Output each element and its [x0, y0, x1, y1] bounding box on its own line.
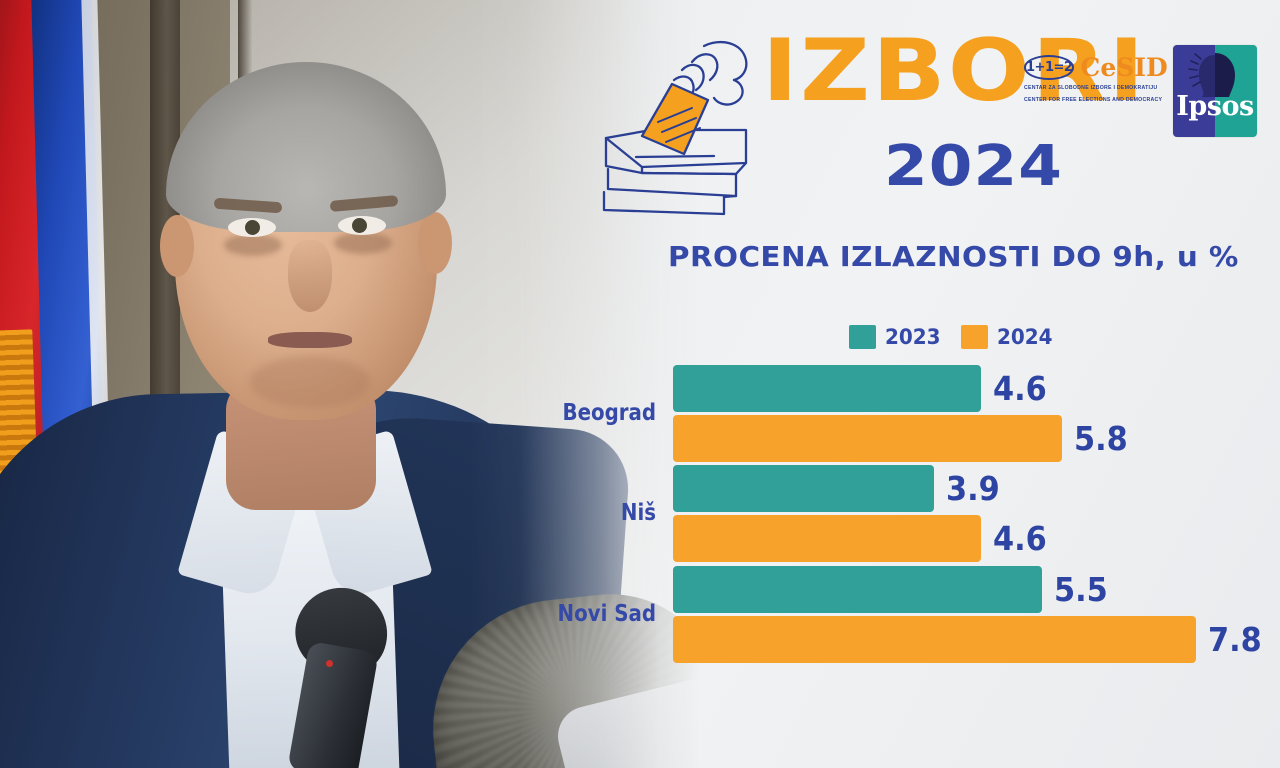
value-label-nis-2023: 3.9 [946, 465, 1000, 512]
bar-beograd-2023 [673, 365, 981, 412]
value-label-novi-sad-2023: 5.5 [1054, 566, 1108, 613]
value-label-novi-sad-2024: 7.8 [1208, 616, 1262, 663]
category-label-nis: Niš [518, 500, 656, 526]
bar-nis-2024 [673, 515, 981, 562]
value-label-nis-2024: 4.6 [993, 515, 1047, 562]
category-label-novi-sad: Novi Sad [518, 601, 656, 627]
infographic-stage: IZBORI 2024 1+1=2 CeSID CENTAR ZA SLOBOD… [0, 0, 1280, 768]
bar-chart-plot: Beograd 4.6 5.8 Niš 3.9 4.6 Novi Sad 5.5… [0, 0, 1280, 768]
value-label-beograd-2023: 4.6 [993, 365, 1047, 412]
bar-nis-2023 [673, 465, 934, 512]
bar-novi-sad-2024 [673, 616, 1196, 663]
bar-beograd-2024 [673, 415, 1062, 462]
category-label-beograd: Beograd [518, 400, 656, 426]
value-label-beograd-2024: 5.8 [1074, 415, 1128, 462]
bar-novi-sad-2023 [673, 566, 1042, 613]
